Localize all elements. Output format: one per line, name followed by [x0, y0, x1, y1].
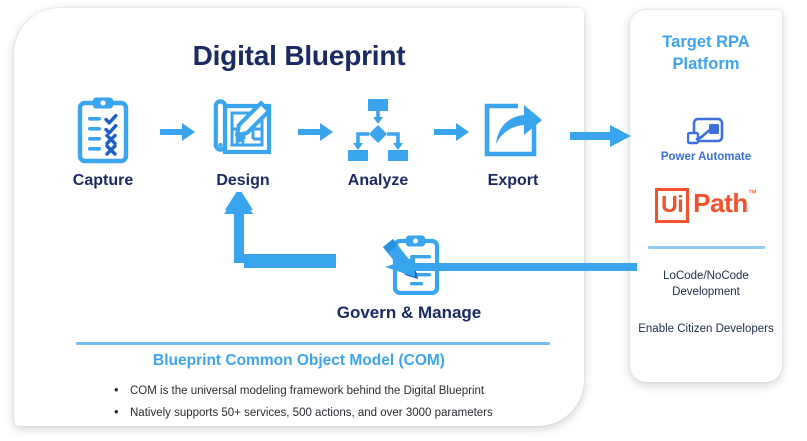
list-item-text: COM is the universal modeling framework …	[130, 382, 484, 401]
arrow-right-icon	[298, 122, 334, 147]
side-panel-title: Target RPA Platform	[630, 32, 782, 76]
step-label: Capture	[48, 172, 158, 190]
step-design[interactable]: Design	[188, 94, 298, 190]
arrow-main-to-platform	[570, 124, 632, 153]
bullet-glyph: •	[114, 401, 130, 422]
arrow-right-icon	[160, 122, 196, 147]
step-label: Design	[188, 172, 298, 190]
side-note-citizen: Enable Citizen Developers	[636, 321, 776, 337]
list-item: • Natively supports 50+ services, 500 ac…	[114, 401, 544, 423]
com-bullet-list: • COM is the universal modeling framewor…	[114, 379, 544, 422]
clipboard-checklist-icon	[48, 94, 158, 166]
step-analyze[interactable]: Analyze	[323, 94, 433, 190]
export-arrow-icon	[458, 94, 568, 166]
flowchart-decision-icon	[323, 94, 433, 166]
side-divider	[648, 246, 765, 249]
list-item-text: Natively supports 50+ services, 500 acti…	[130, 404, 493, 423]
trademark-symbol: ™	[748, 189, 757, 198]
step-label: Analyze	[323, 172, 433, 190]
target-rpa-platform-card: Target RPA Platform Power Automate Ui Pa…	[630, 10, 782, 382]
list-item: • COM is the universal modeling framewor…	[114, 379, 544, 401]
arrow-govern-to-design	[206, 192, 336, 279]
com-title: Blueprint Common Object Model (COM)	[14, 352, 584, 370]
power-automate-icon	[630, 115, 782, 149]
bullet-glyph: •	[114, 379, 130, 400]
step-capture[interactable]: Capture	[48, 94, 158, 190]
side-note-locode: LoCode/NoCode Development	[636, 268, 776, 301]
uipath-mark-ui: Ui	[655, 188, 689, 223]
uipath-wordmark: Path	[693, 190, 748, 216]
platform-power-automate[interactable]: Power Automate	[630, 115, 782, 163]
platform-label: Power Automate	[630, 151, 782, 163]
com-divider	[76, 342, 550, 345]
platform-uipath[interactable]: Ui Path ™	[630, 188, 782, 223]
arrow-right-icon	[434, 122, 470, 147]
step-label: Export	[458, 172, 568, 190]
uipath-logo: Ui Path ™	[655, 188, 757, 223]
arrow-platform-to-govern	[385, 256, 637, 283]
step-export[interactable]: Export	[458, 94, 568, 190]
step-label: Govern & Manage	[314, 303, 504, 323]
page-title: Digital Blueprint	[14, 40, 584, 72]
slide-canvas: Digital Blueprint	[0, 0, 807, 441]
blueprint-pencil-icon	[188, 94, 298, 166]
